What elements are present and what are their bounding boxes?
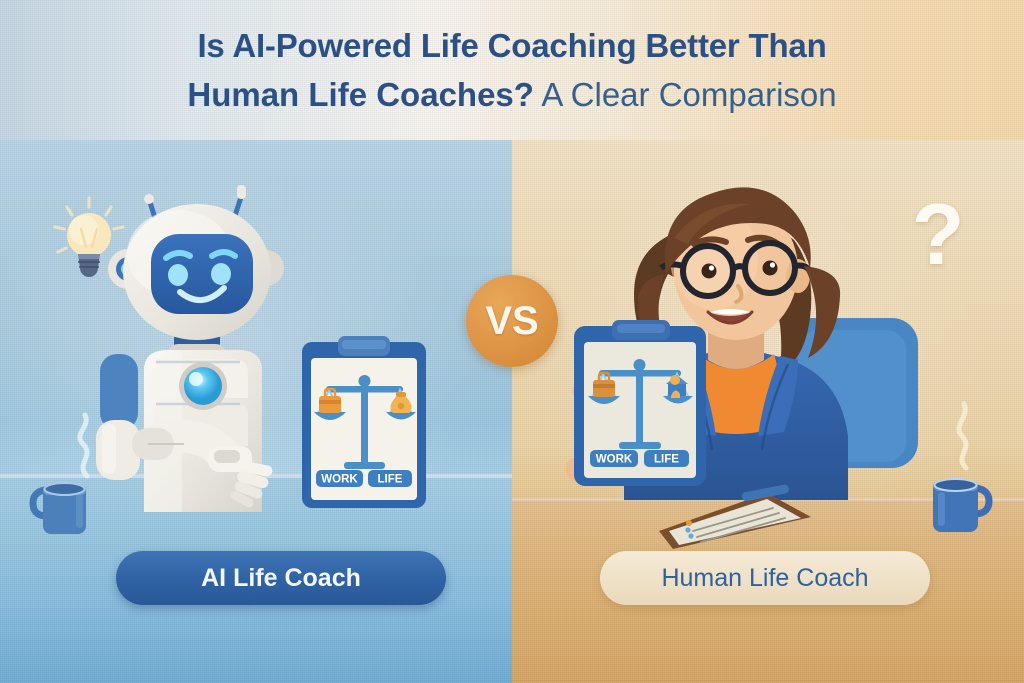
left-mug-steam-icon <box>55 412 115 478</box>
vs-badge: VS <box>466 275 558 367</box>
right-mug-steam-icon <box>940 400 1000 470</box>
human-worklife-clipboard: WORK LIFE <box>572 318 708 488</box>
checklist-clipboard <box>655 487 815 557</box>
ai-worklife-clipboard: WORK LIFE <box>300 334 428 510</box>
banner-title: Is AI-Powered Life Coaching Better Than … <box>0 22 1024 120</box>
work-label-text: WORK <box>321 474 358 486</box>
vs-label: VS <box>485 299 538 344</box>
title-line-2-bold: Human Life Coaches? <box>187 76 534 113</box>
robot-chest-core-icon <box>179 362 227 410</box>
right-coffee-mug-icon <box>925 466 991 534</box>
infographic-banner: Is AI-Powered Life Coaching Better Than … <box>0 0 1024 683</box>
life-label-text: LIFE <box>654 454 679 466</box>
life-label-text: LIFE <box>378 474 403 486</box>
title-line-2-light: A Clear Comparison <box>541 76 836 113</box>
ai-life-coach-label: AI Life Coach <box>201 564 361 593</box>
left-coffee-mug-icon <box>32 470 98 536</box>
ai-life-coach-label-pill[interactable]: AI Life Coach <box>116 551 446 605</box>
human-life-coach-label-pill[interactable]: Human Life Coach <box>600 551 930 605</box>
title-line-2: Human Life Coaches? A Clear Comparison <box>0 70 1024 120</box>
human-life-coach-label: Human Life Coach <box>661 564 868 593</box>
title-line-1: Is AI-Powered Life Coaching Better Than <box>0 22 1024 70</box>
work-label-text: WORK <box>596 454 633 466</box>
